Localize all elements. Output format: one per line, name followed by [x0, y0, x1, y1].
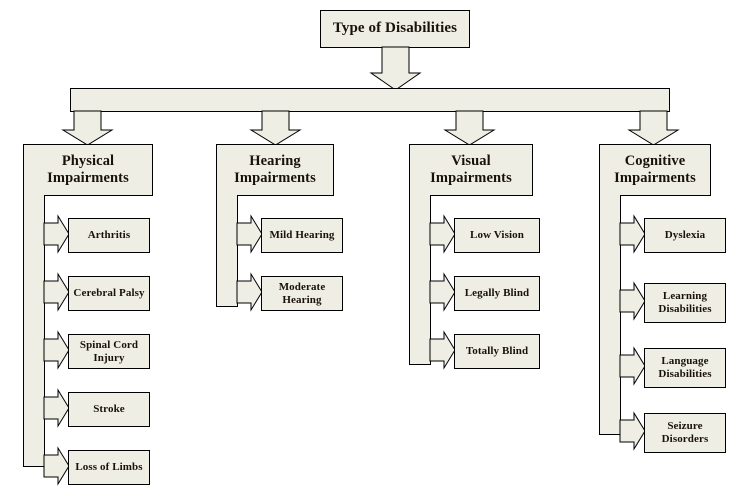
leaf-label-dyslexia: Dyslexia: [665, 229, 706, 242]
connector-bar-to-cognitive: [628, 111, 680, 147]
category-node-visual-impairments: Visual Impairments: [409, 144, 533, 196]
leaf-node-totally-blind: Totally Blind: [454, 334, 540, 369]
leaf-label-legally-blind: Legally Blind: [465, 287, 530, 300]
leaf-label-mild-hearing: Mild Hearing: [269, 229, 334, 242]
connector-root-to-bar: [370, 47, 422, 92]
connector-visual-to-low-vision: [430, 216, 456, 256]
leaf-node-legally-blind: Legally Blind: [454, 276, 540, 311]
category-label-cognitive: Cognitive Impairments: [600, 153, 710, 187]
leaf-node-moderate-hearing: Moderate Hearing: [261, 276, 343, 311]
connector-cognitive-to-language-disabilities: [620, 348, 646, 388]
leaf-node-seizure-disorders: Seizure Disorders: [644, 413, 726, 453]
connector-cognitive-to-seizure-disorders: [620, 413, 646, 453]
leaf-label-stroke: Stroke: [93, 403, 125, 416]
leaf-node-cerebral-palsy: Cerebral Palsy: [68, 276, 150, 311]
leaf-node-language-disabilities: Language Disabilities: [644, 348, 726, 388]
trunk-cognitive: [599, 195, 621, 435]
category-label-physical: Physical Impairments: [24, 153, 152, 187]
connector-cognitive-to-dyslexia: [620, 216, 646, 256]
root-node-label: Type of Disabilities: [333, 20, 457, 38]
connector-cognitive-to-learning-disabilities: [620, 283, 646, 323]
connector-hearing-to-mild-hearing: [237, 216, 263, 256]
category-node-cognitive-impairments: Cognitive Impairments: [599, 144, 711, 196]
connector-physical-to-cerebral-palsy: [44, 274, 70, 314]
connector-bar-to-physical: [62, 111, 114, 147]
trunk-physical: [23, 195, 45, 467]
leaf-label-language-disabilities: Language Disabilities: [645, 355, 725, 381]
leaf-label-spinal-cord-injury: Spinal Cord Injury: [69, 339, 149, 365]
leaf-node-learning-disabilities: Learning Disabilities: [644, 283, 726, 323]
leaf-label-moderate-hearing: Moderate Hearing: [262, 281, 342, 307]
distribution-bar: [70, 88, 670, 112]
leaf-node-low-vision: Low Vision: [454, 218, 540, 253]
leaf-label-low-vision: Low Vision: [470, 229, 524, 242]
root-node-type-of-disabilities: Type of Disabilities: [320, 10, 470, 48]
leaf-node-arthritis: Arthritis: [68, 218, 150, 253]
category-label-hearing: Hearing Impairments: [217, 153, 333, 187]
connector-visual-to-legally-blind: [430, 274, 456, 314]
leaf-node-mild-hearing: Mild Hearing: [261, 218, 343, 253]
connector-physical-to-stroke: [44, 390, 70, 430]
leaf-label-seizure-disorders: Seizure Disorders: [645, 420, 725, 446]
connector-physical-to-arthritis: [44, 216, 70, 256]
leaf-node-stroke: Stroke: [68, 392, 150, 427]
leaf-label-cerebral-palsy: Cerebral Palsy: [73, 287, 144, 300]
leaf-node-loss-of-limbs: Loss of Limbs: [68, 450, 150, 485]
connector-physical-to-loss-of-limbs: [44, 448, 70, 488]
leaf-node-dyslexia: Dyslexia: [644, 218, 726, 253]
trunk-visual: [409, 195, 431, 365]
leaf-label-totally-blind: Totally Blind: [466, 345, 528, 358]
connector-bar-to-visual: [444, 111, 496, 147]
leaf-label-arthritis: Arthritis: [88, 229, 130, 242]
leaf-label-learning-disabilities: Learning Disabilities: [645, 290, 725, 316]
leaf-label-loss-of-limbs: Loss of Limbs: [75, 461, 142, 474]
connector-hearing-to-moderate-hearing: [237, 274, 263, 314]
trunk-hearing: [216, 195, 238, 307]
connector-physical-to-spinal-cord-injury: [44, 332, 70, 372]
disability-taxonomy-diagram: Type of Disabilities Physical Impairment…: [0, 0, 740, 496]
category-node-hearing-impairments: Hearing Impairments: [216, 144, 334, 196]
category-node-physical-impairments: Physical Impairments: [23, 144, 153, 196]
connector-visual-to-totally-blind: [430, 332, 456, 372]
leaf-node-spinal-cord-injury: Spinal Cord Injury: [68, 334, 150, 369]
connector-bar-to-hearing: [250, 111, 302, 147]
category-label-visual: Visual Impairments: [410, 153, 532, 187]
